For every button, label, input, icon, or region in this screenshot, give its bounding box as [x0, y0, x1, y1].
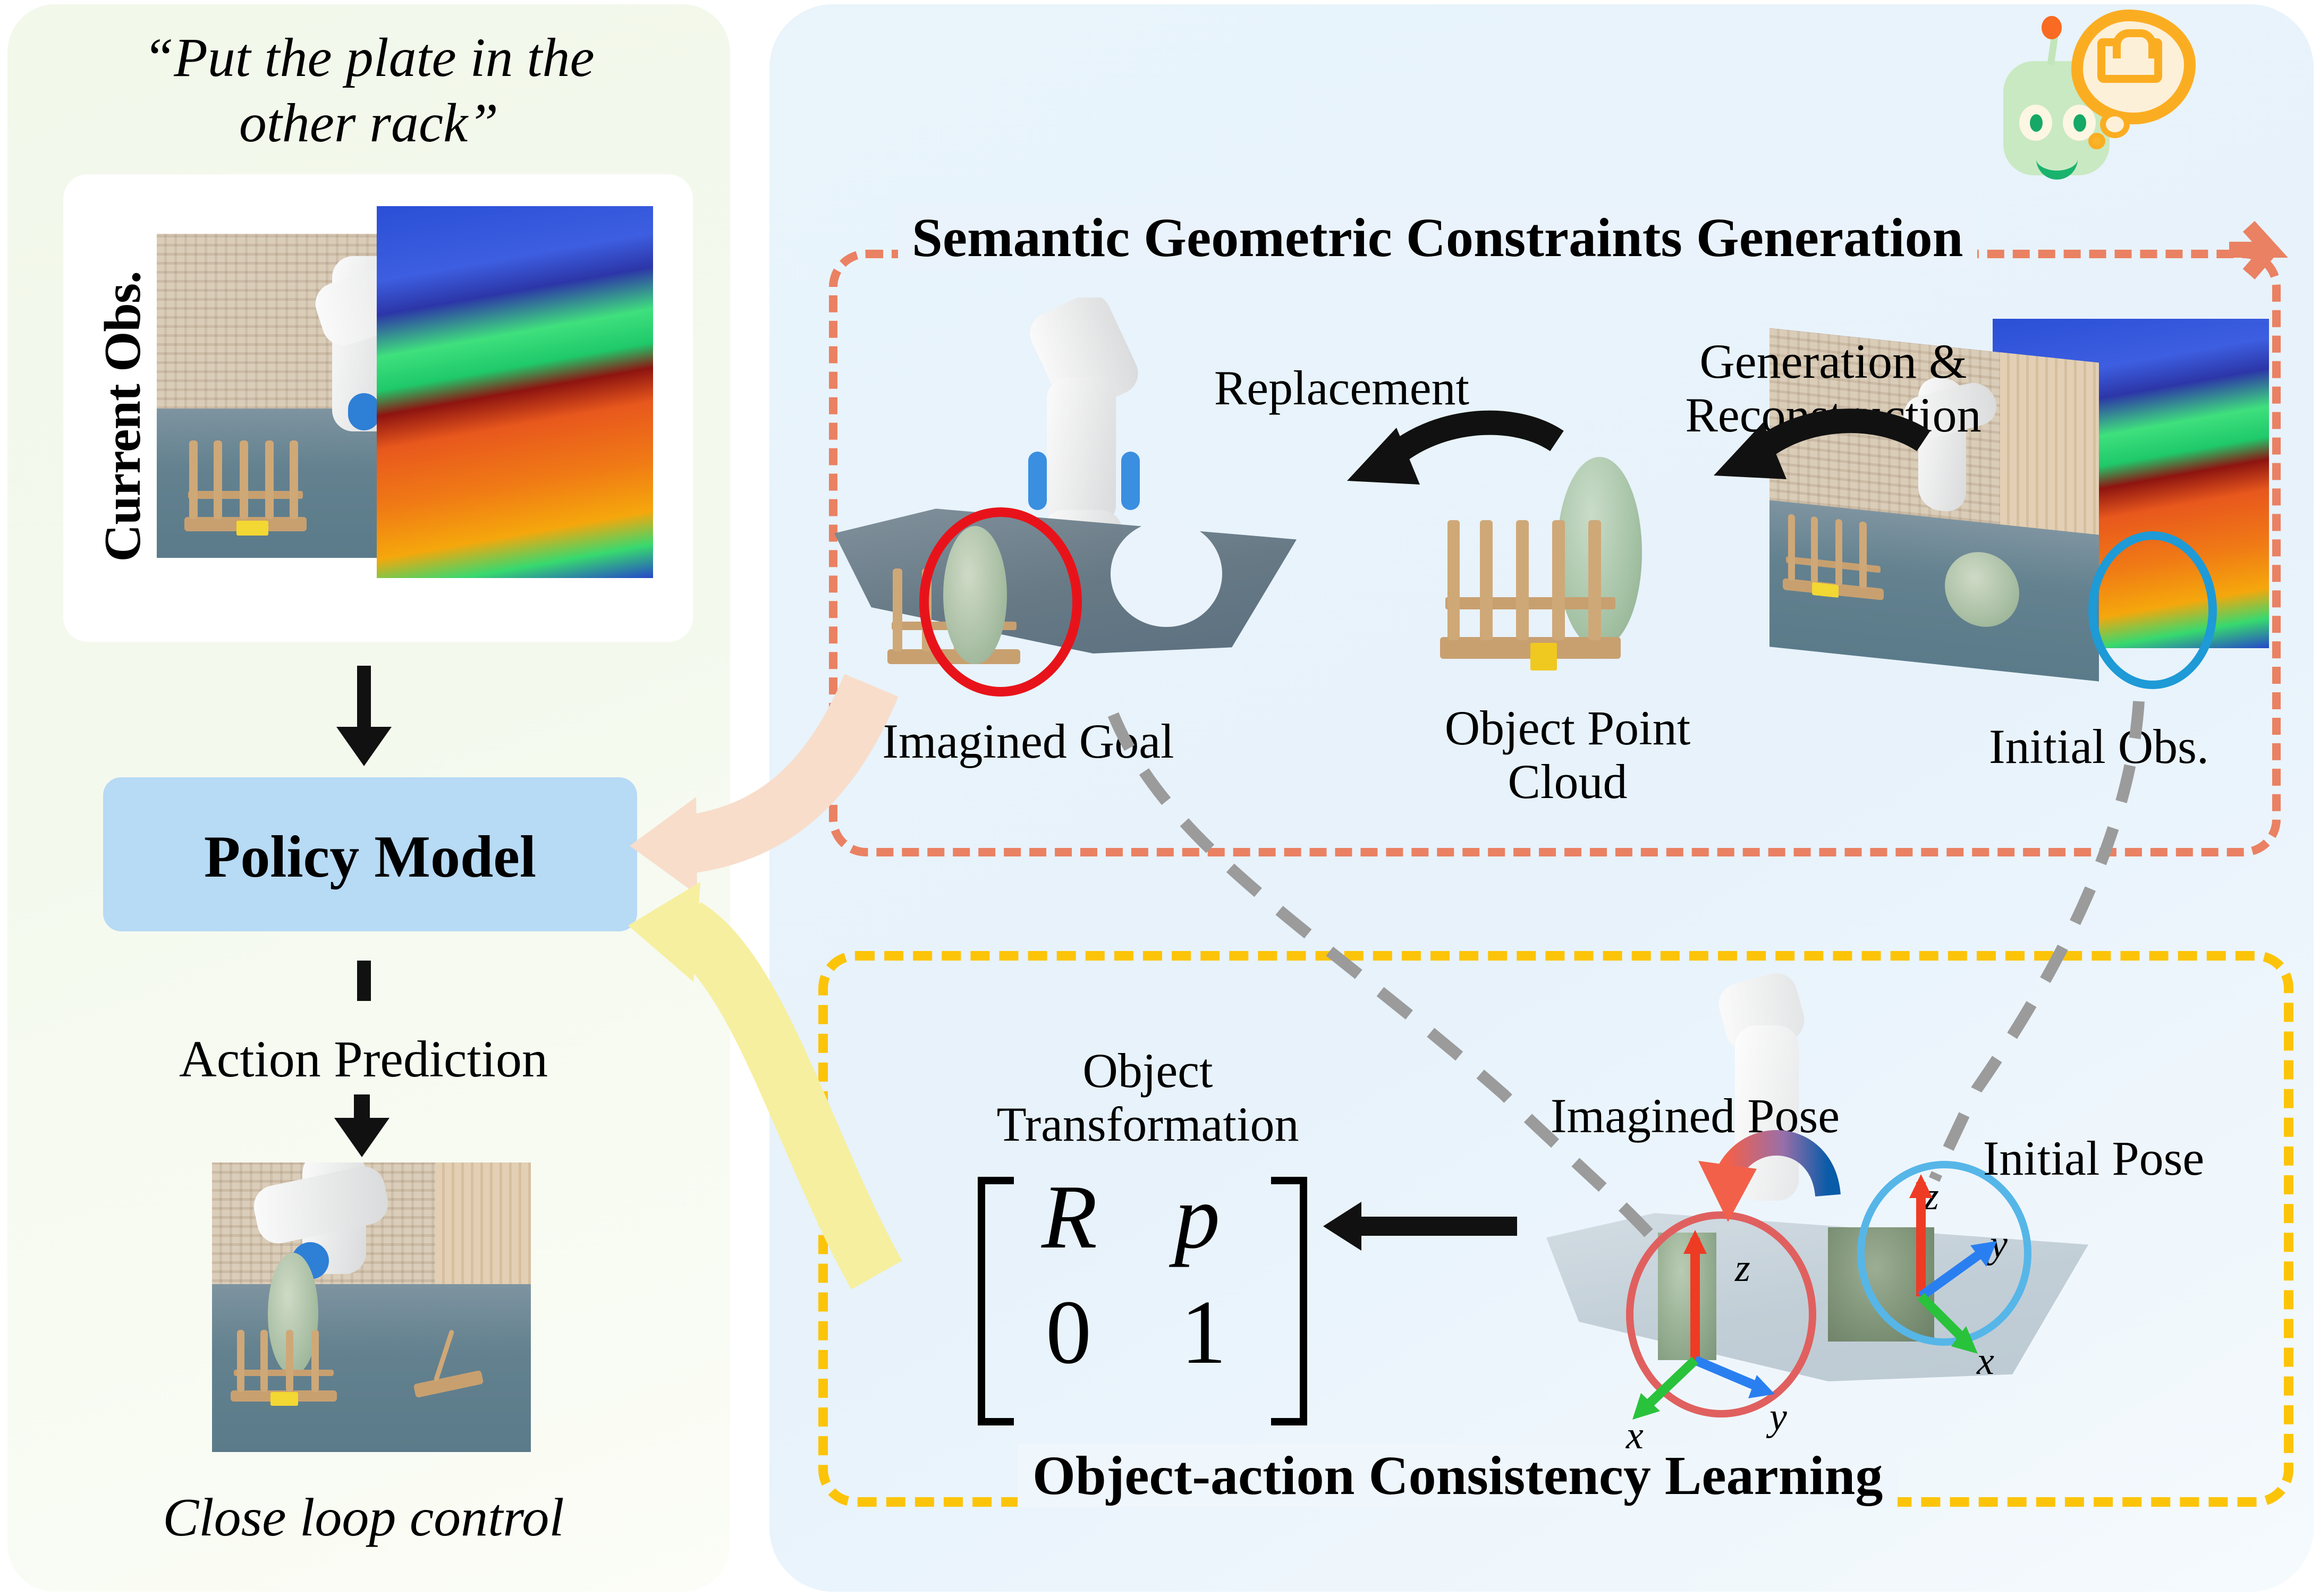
close-loop-control-label: Close loop control: [7, 1487, 719, 1549]
object-action-consistency-title: Object-action Consistency Learning: [1018, 1444, 1898, 1507]
task-instruction: “Put the plate in the other rack”: [39, 26, 698, 156]
semantic-geometric-constraints-title: Semantic Geometric Constraints Generatio…: [898, 206, 1977, 269]
object-transformation-label: Object Transformation: [956, 1044, 1339, 1151]
initial-obs-caption: Initial Obs.: [1934, 720, 2264, 774]
imagined-pose-axis-y-label: y: [1769, 1395, 1787, 1440]
transformation-matrix: R p 0 1: [978, 1177, 1307, 1411]
initial-pose-axis-x-label: x: [1977, 1339, 1994, 1384]
initial-pose-axis-y-label: y: [1990, 1222, 2008, 1267]
policy-model-label: Policy Model: [103, 823, 637, 892]
matrix-1: 1: [1181, 1280, 1226, 1385]
pose-scene: [1530, 978, 2200, 1445]
matrix-R: R: [1042, 1165, 1097, 1270]
policy-model-box[interactable]: Policy Model: [103, 777, 637, 931]
robot-antenna-tip-icon: [2042, 16, 2062, 39]
imagined-goal-highlight-ring: [919, 507, 1082, 697]
cloud-icon: [2097, 38, 2162, 83]
imagined-pose-axis-x-label: x: [1626, 1413, 1644, 1458]
current-observation-card: Current Obs.: [63, 174, 693, 642]
action-prediction-label: Action Prediction: [7, 1030, 719, 1089]
imagined-goal-pointcloud: [834, 298, 1366, 701]
imagined-pose-caption: Imagined Pose: [1509, 1089, 1881, 1143]
robot-eye-left-icon: [2019, 105, 2052, 141]
object-point-cloud-image: [1435, 446, 1700, 701]
replacement-arrow-label: Replacement: [1177, 361, 1506, 415]
robot-mouth-icon: [2036, 150, 2078, 180]
imagined-pose-axis-z-label: z: [1735, 1246, 1750, 1291]
imagined-goal-caption: Imagined Goal: [832, 715, 1225, 768]
initial-pose-axis-z-label: z: [1924, 1174, 1939, 1219]
thought-dot-large-icon: [2100, 111, 2130, 138]
thought-dot-small-icon: [2088, 133, 2105, 149]
object-point-cloud-caption: Object Point Cloud: [1398, 701, 1738, 809]
close-loop-result-image: [212, 1162, 531, 1452]
current-obs-depth-image: [377, 206, 653, 578]
matrix-p: p: [1174, 1165, 1220, 1270]
imagined-pose-ring: [1626, 1211, 1816, 1417]
initial-obs-highlight-ring: [2088, 531, 2217, 689]
left-panel: “Put the plate in the other rack” Curren…: [7, 4, 730, 1592]
generation-reconstruction-arrow-label: Generation & Reconstruction: [1653, 335, 2014, 442]
matrix-0: 0: [1046, 1280, 1091, 1385]
current-obs-label: Current Obs.: [93, 231, 153, 602]
initial-pose-caption: Initial Pose: [1924, 1132, 2264, 1185]
